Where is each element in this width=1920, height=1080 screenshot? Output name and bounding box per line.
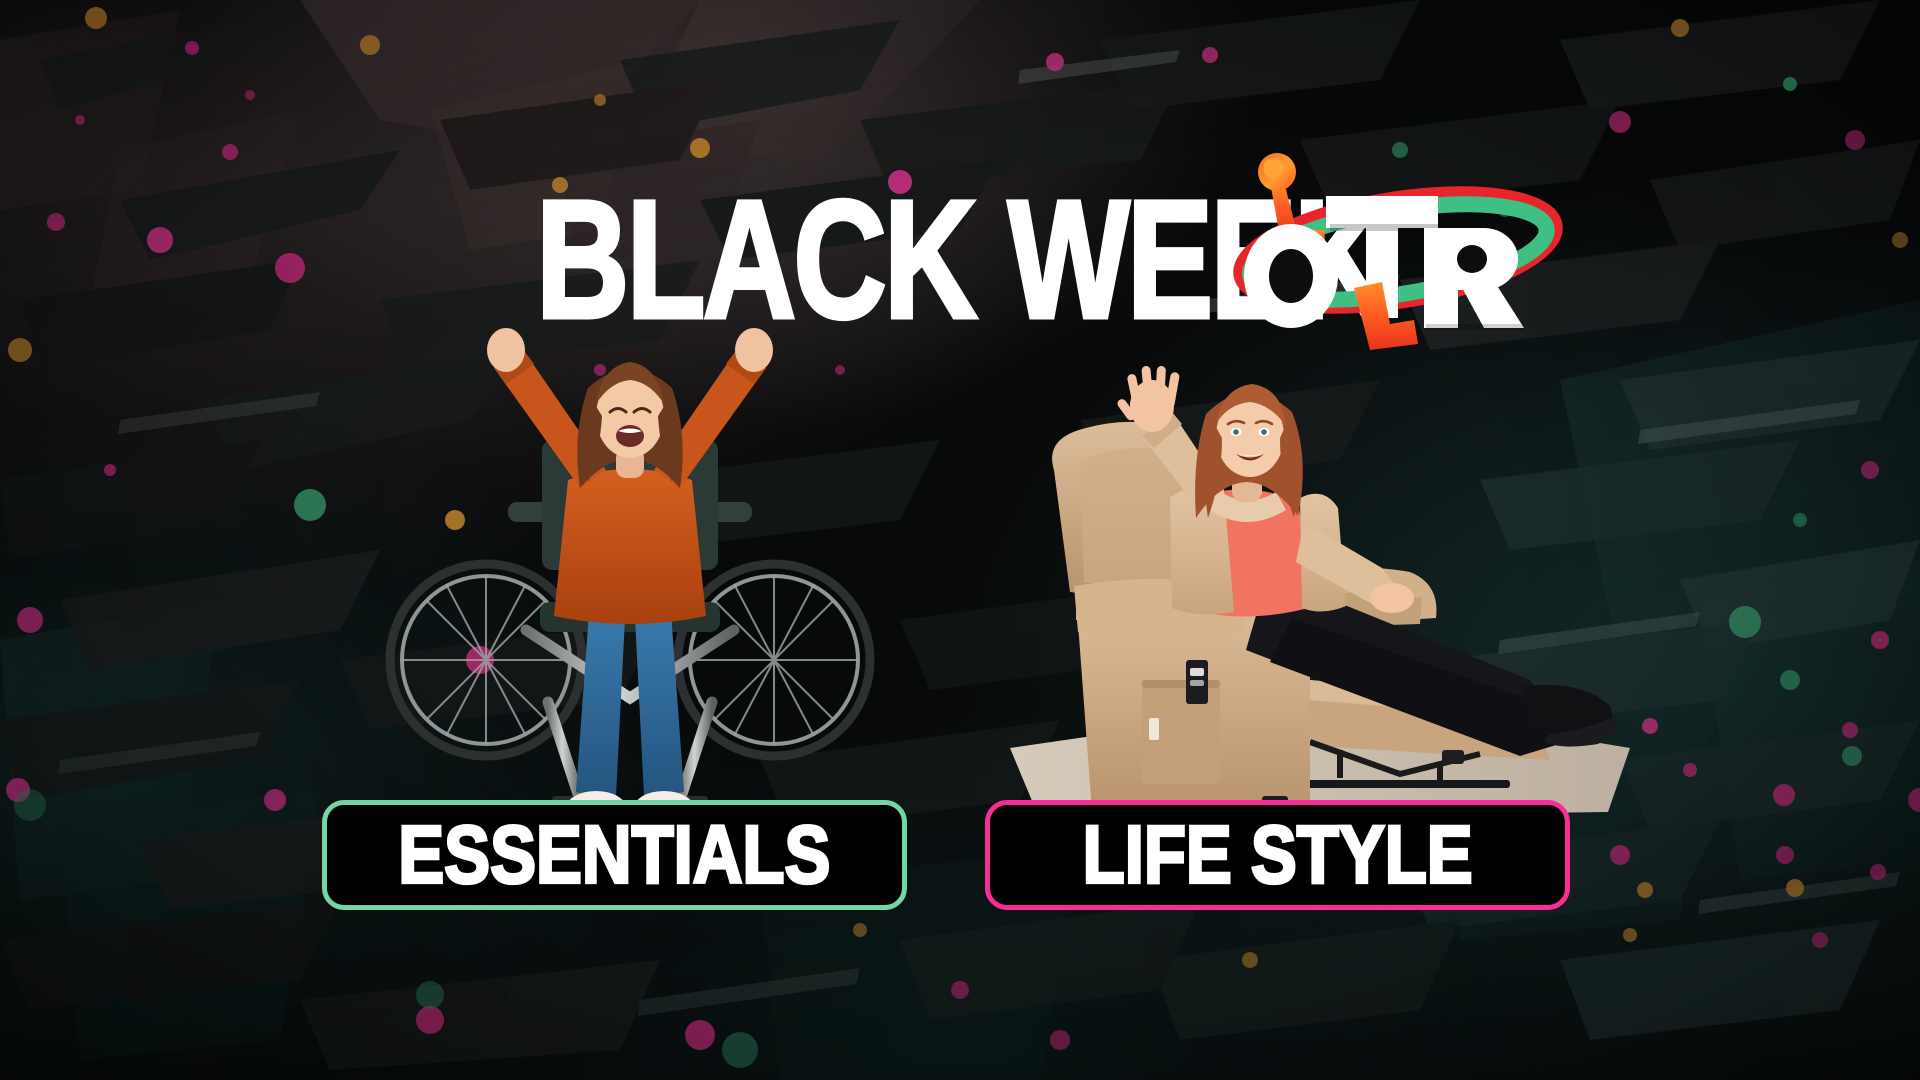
category-label-lifestyle: LIFE STYLE [1082, 814, 1472, 895]
background-shard-texture [0, 0, 1920, 1080]
category-button-lifestyle[interactable]: LIFE STYLE [985, 800, 1570, 910]
category-button-essentials[interactable]: ESSENTIALS [322, 800, 907, 910]
photo-wheelchair-user [430, 330, 830, 830]
category-label-essentials: ESSENTIALS [398, 814, 830, 895]
black-week-promo-banner: BLACK WEEK [0, 0, 1920, 1080]
photo-recliner-user [1010, 350, 1630, 850]
